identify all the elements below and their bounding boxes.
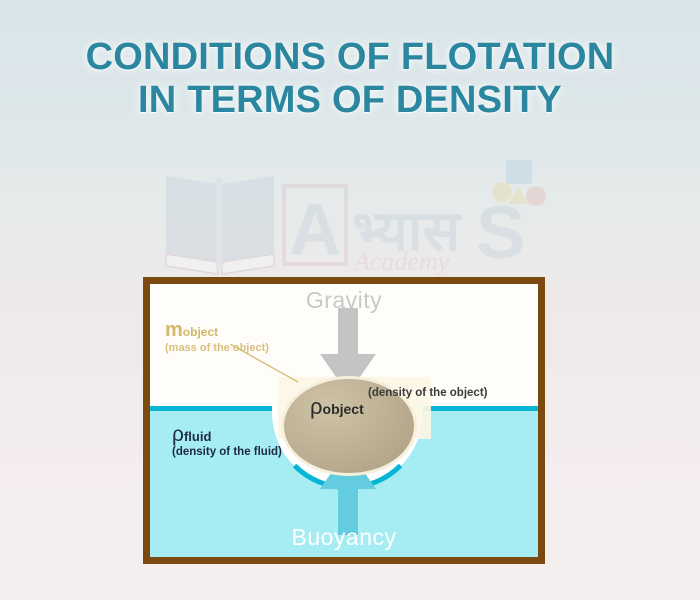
mass-symbol: m: [165, 319, 183, 341]
watermark-brand-devanagari: भ्यास: [352, 199, 462, 264]
watermark-letter-a: A: [284, 186, 346, 270]
watermark-tagline: Academy: [352, 247, 450, 276]
object-density-description: (density of the object): [368, 387, 487, 399]
mass-subscript: object: [183, 325, 218, 339]
page-title: CONDITIONS OF FLOTATION IN TERMS OF DENS…: [0, 36, 700, 121]
fluid-density-label: ρfluid (density of the fluid): [172, 424, 282, 458]
object-density-subscript: object: [323, 401, 364, 417]
open-book-icon: [166, 176, 274, 274]
object-density-symbol: ρ: [310, 394, 323, 419]
svg-text:A: A: [289, 190, 341, 270]
watermark-accent-shapes: [492, 160, 546, 206]
page-root: CONDITIONS OF FLOTATION IN TERMS OF DENS…: [0, 0, 700, 600]
fluid-density-symbol: ρ: [172, 423, 184, 446]
page-title-line-1: CONDITIONS OF FLOTATION: [0, 36, 700, 79]
fluid-density-subscript: fluid: [184, 429, 211, 444]
flotation-diagram-frame: Gravity Buoyancy mobject (mass of the ob…: [143, 277, 545, 564]
page-title-line-2: IN TERMS OF DENSITY: [0, 79, 700, 122]
watermark-svg: A भ्यास S Academy: [158, 158, 558, 278]
watermark-logo: A भ्यास S Academy: [158, 158, 558, 278]
watermark-brand-suffix: S: [476, 191, 525, 274]
gravity-label: Gravity: [150, 287, 538, 314]
mass-description: (mass of the object): [165, 342, 269, 354]
flotation-diagram: Gravity Buoyancy mobject (mass of the ob…: [150, 284, 538, 557]
buoyancy-label: Buoyancy: [150, 524, 538, 551]
mass-label: mobject (mass of the object): [165, 320, 269, 354]
svg-text:भ्यास: भ्यास: [352, 199, 462, 264]
fluid-density-description: (density of the fluid): [172, 446, 282, 458]
object-density-label: ρobject: [310, 396, 364, 419]
